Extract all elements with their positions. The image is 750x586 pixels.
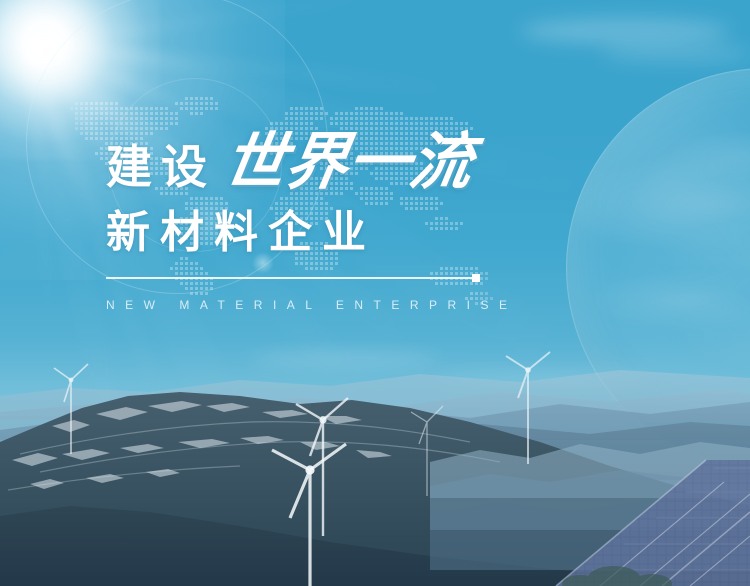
headline-line-1: 建设 世界一流 (106, 132, 666, 204)
wind-turbine-icon (405, 400, 449, 496)
landscape-svg (0, 330, 750, 586)
divider-end-cap-icon (472, 274, 480, 282)
divider-rule (106, 277, 478, 279)
headline-line-2: 新材料企业 (106, 208, 666, 257)
headline-plain-text: 建设 (106, 144, 216, 190)
headline-emphasis-text: 世界一流 (219, 132, 477, 194)
wind-turbine-icon (48, 358, 94, 454)
subtitle-text: NEW MATERIAL ENTERPRISE (106, 298, 666, 312)
wind-turbine-icon (500, 342, 556, 464)
wind-turbine-icon (262, 426, 358, 586)
promotional-banner: 建设 世界一流 新材料企业 NEW MATERIAL ENTERPRISE (0, 0, 750, 586)
landscape-photo (0, 330, 750, 586)
headline-block: 建设 世界一流 新材料企业 NEW MATERIAL ENTERPRISE (106, 132, 666, 312)
